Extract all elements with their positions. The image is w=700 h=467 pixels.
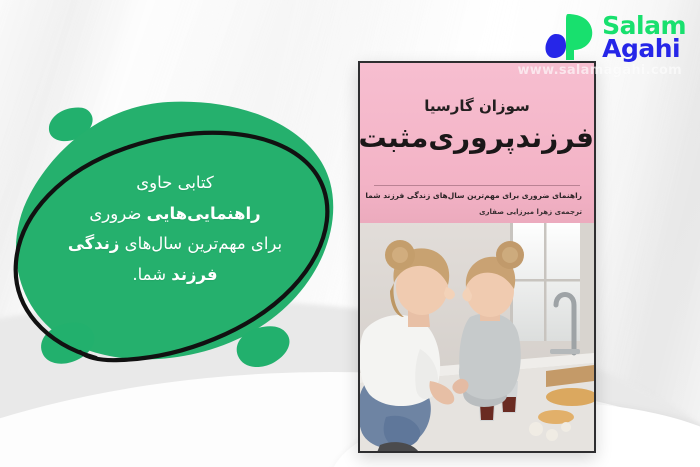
book-title: فرزندپروری‌مثبت xyxy=(360,121,594,154)
callout-line-4-bold: فرزند xyxy=(171,265,217,284)
book-cover-divider xyxy=(374,185,580,186)
leaf-logo-icon xyxy=(544,12,596,62)
callout-line-2-bold: راهنمایی‌هایی xyxy=(147,204,261,223)
callout-line-3: برای مهم‌ترین سال‌های زندگی xyxy=(20,229,330,260)
callout-line-1: کتابی حاوی xyxy=(20,168,330,199)
book-cover-inner: سوزان گارسیا فرزندپروری‌مثبت راهنمای ضرو… xyxy=(360,63,594,451)
callout-line-4-rest: شما. xyxy=(132,265,171,284)
brand-logo[interactable]: Salam Agahi xyxy=(544,12,686,62)
callout-line-2-rest: ضروری xyxy=(89,204,146,223)
site-watermark: www.salamagahi.com xyxy=(517,63,682,78)
book-cover[interactable]: سوزان گارسیا فرزندپروری‌مثبت راهنمای ضرو… xyxy=(358,61,596,453)
promo-banner: کتابی حاوی راهنمایی‌هایی ضروری برای مهم‌… xyxy=(0,0,700,467)
callout-line-2: راهنمایی‌هایی ضروری xyxy=(20,199,330,230)
brand-name-agahi: Agahi xyxy=(602,37,686,60)
book-cover-photo xyxy=(360,223,594,451)
book-author: سوزان گارسیا xyxy=(360,97,594,115)
callout-line-4: فرزند شما. xyxy=(20,260,330,291)
callout-line-3-rest: برای مهم‌ترین سال‌های xyxy=(119,234,282,253)
callout-text-block: کتابی حاوی راهنمایی‌هایی ضروری برای مهم‌… xyxy=(20,168,330,290)
book-subtitle: راهنمای ضروری برای مهم‌ترین سال‌های زندگ… xyxy=(365,191,582,200)
callout-line-3-bold: زندگی xyxy=(68,234,120,253)
brand-wordmark: Salam Agahi xyxy=(602,14,686,60)
book-translator: ترجمه‌ی زهرا میرزایی صفاری xyxy=(479,208,582,216)
